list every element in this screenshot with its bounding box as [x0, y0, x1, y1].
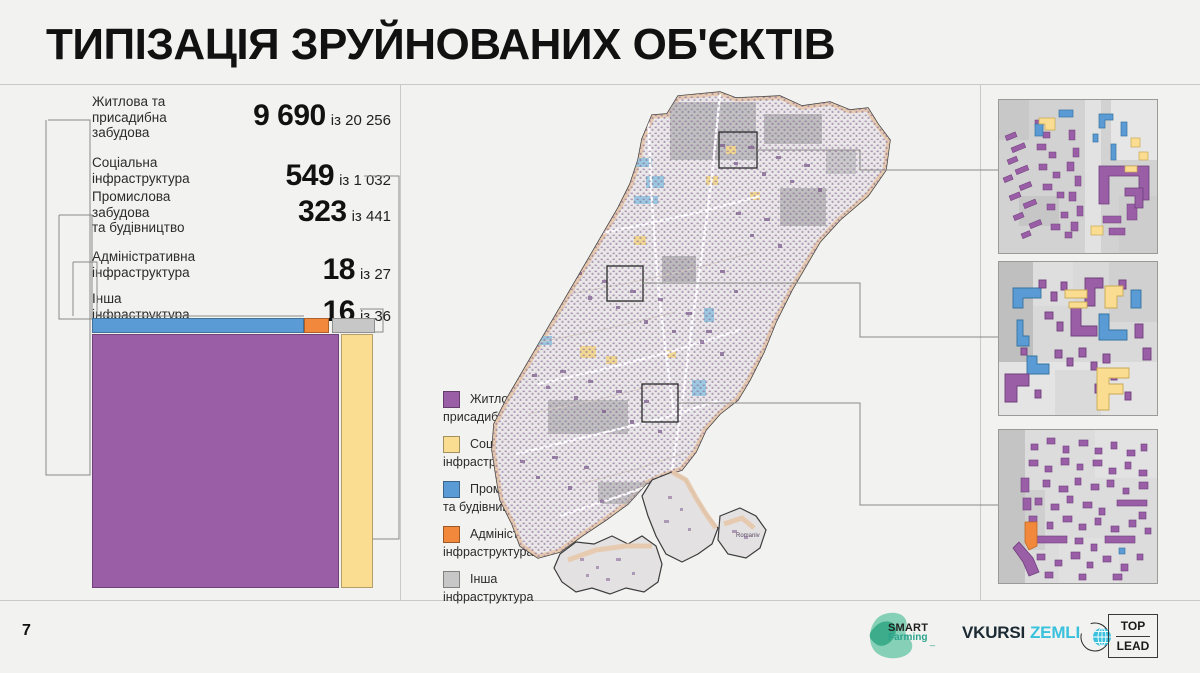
top-lead-divider — [1116, 636, 1150, 637]
treemap-chart — [92, 318, 381, 588]
vkursi-word: VKURSI — [962, 623, 1025, 643]
slide: ТИПІЗАЦІЯ ЗРУЙНОВАНИХ ОБ'ЄКТІВ Житлова т… — [0, 0, 1200, 673]
inset-1-svg — [999, 100, 1157, 253]
footer-logos: SMART Farming _ VKURSI ZEMLI TOP — [866, 606, 1186, 666]
city-map[interactable]: Romaniv — [420, 84, 980, 600]
map-place-label: Romaniv — [736, 533, 760, 539]
smart-farming-line2: Farming — [888, 632, 927, 643]
page-title: ТИПІЗАЦІЯ ЗРУЙНОВАНИХ ОБ'ЄКТІВ — [46, 20, 835, 70]
zemli-word: ZEMLI — [1030, 623, 1080, 643]
map-inset-3[interactable] — [998, 429, 1158, 584]
logo-vkursi-zemli[interactable]: VKURSI ZEMLI — [962, 620, 1092, 650]
treemap-cell-industrial[interactable] — [92, 318, 304, 333]
treemap-cell-residential[interactable] — [92, 334, 339, 588]
inset-3-svg — [999, 430, 1157, 583]
logo-smart-farming[interactable]: SMART Farming _ — [866, 606, 952, 662]
map-inset-1[interactable] — [998, 99, 1158, 254]
page-number: 7 — [22, 622, 31, 640]
logo-top-lead[interactable]: TOP LEAD — [1108, 614, 1158, 658]
inset-2-svg — [999, 262, 1157, 415]
divider-vertical-right — [980, 84, 981, 600]
header: ТИПІЗАЦІЯ ЗРУЙНОВАНИХ ОБ'ЄКТІВ — [0, 0, 1200, 84]
map-svg: Romaniv — [420, 84, 980, 600]
treemap-cell-social[interactable] — [341, 334, 373, 588]
smart-farming-line3: _ — [930, 636, 935, 646]
treemap-cell-administrative[interactable] — [304, 318, 329, 333]
treemap-cell-other[interactable] — [332, 318, 375, 333]
lead-word: LEAD — [1109, 639, 1157, 653]
top-word: TOP — [1109, 619, 1157, 633]
map-inset-2[interactable] — [998, 261, 1158, 416]
